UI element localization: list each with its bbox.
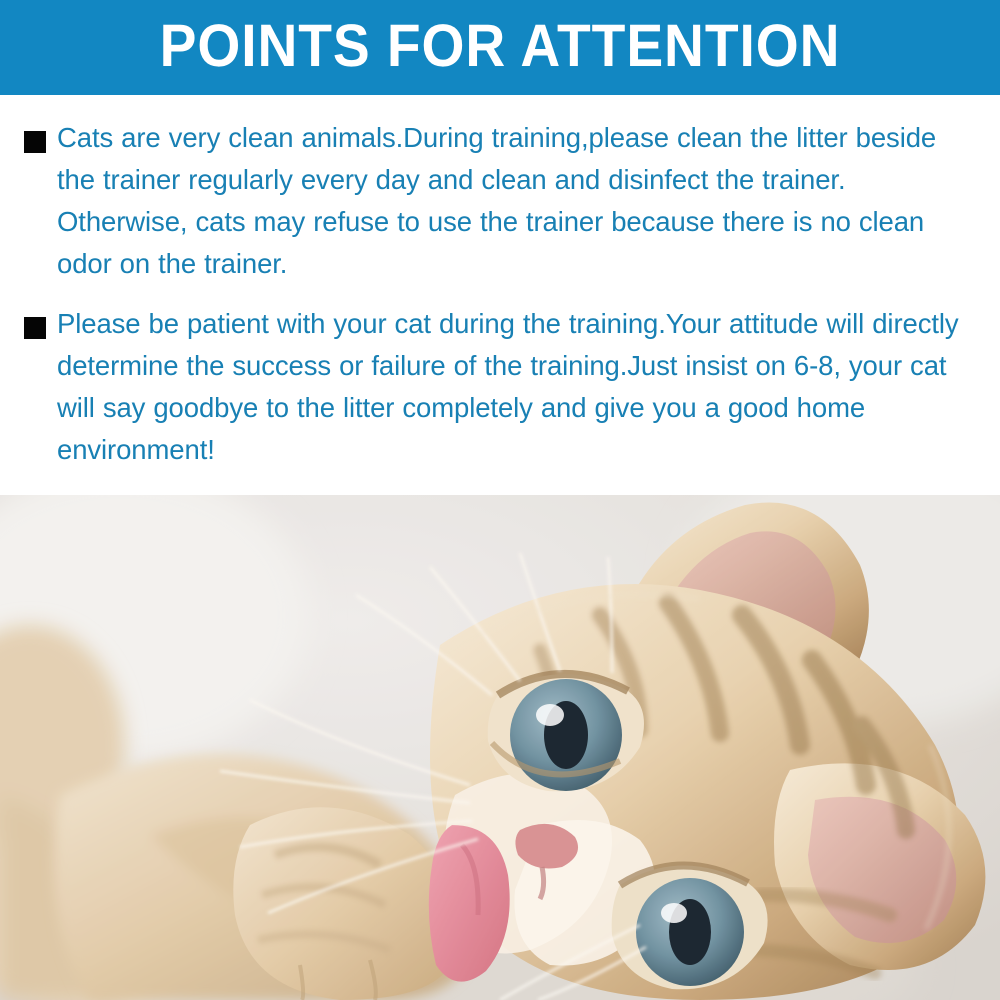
kitten-photo [0, 495, 1000, 1000]
header-banner: POINTS FOR ATTENTION [0, 0, 1000, 95]
page-root: POINTS FOR ATTENTION Cats are very clean… [0, 0, 1000, 1000]
note-item: Please be patient with your cat during t… [0, 303, 1000, 471]
notes-section: Cats are very clean animals.During train… [0, 95, 1000, 495]
kitten-illustration [0, 495, 1000, 1000]
square-bullet-icon [24, 317, 46, 339]
note-text: Cats are very clean animals.During train… [57, 117, 980, 285]
page-title: POINTS FOR ATTENTION [160, 16, 841, 76]
note-text: Please be patient with your cat during t… [57, 303, 980, 471]
square-bullet-icon [24, 131, 46, 153]
note-item: Cats are very clean animals.During train… [0, 117, 1000, 285]
